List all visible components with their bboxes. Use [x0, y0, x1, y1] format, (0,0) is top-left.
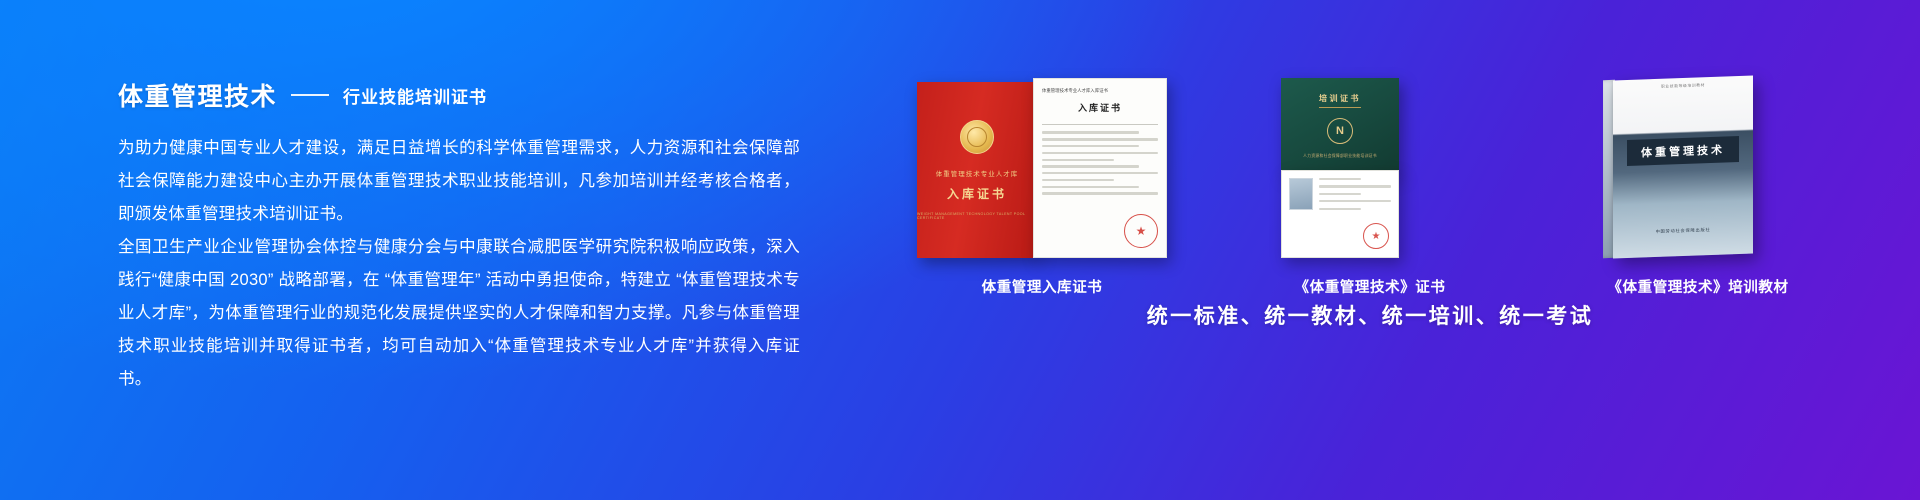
- inner-page-footer-text: [1042, 242, 1043, 248]
- page-subtitle: 行业技能培训证书: [343, 83, 487, 108]
- certificate-artwork-green: 培训证书 N 人力资源和社会保障部职业技能培训证书 ★: [1245, 78, 1495, 258]
- certificate-inner-page: 体重管理技术专业人才库入库证书 入库证书: [1033, 78, 1167, 258]
- book-title-band: 体重管理技术: [1627, 136, 1739, 166]
- heading-row: 体重管理技术 行业技能培训证书: [118, 78, 818, 112]
- certificate-caption-2: 《体重管理技术》证书: [1295, 276, 1446, 297]
- title-divider-dash: [291, 94, 329, 96]
- certificate-red-cover: 体重管理技术专业人才库 入库证书 WEIGHT MANAGEMENT TECHN…: [917, 82, 1037, 258]
- certificate-item-2: 培训证书 N 人力资源和社会保障部职业技能培训证书 ★ 《: [1245, 78, 1495, 297]
- inner-page-title: 入库证书: [1042, 101, 1158, 114]
- certificate-caption-1: 体重管理入库证书: [982, 276, 1103, 297]
- green-cover-title: 培训证书: [1319, 93, 1361, 108]
- gold-seal-icon: N: [1327, 118, 1353, 144]
- certificate-green-cover: 培训证书 N 人力资源和社会保障部职业技能培训证书: [1281, 78, 1399, 174]
- book-title-text: 体重管理技术: [1641, 142, 1725, 161]
- certificate-artwork-red: 体重管理技术专业人才库 入库证书 WEIGHT MANAGEMENT TECHN…: [917, 78, 1167, 258]
- id-photo-placeholder: [1289, 178, 1313, 210]
- textbook-artwork: 职业技能等级培训教材 体重管理技术 中国劳动社会保障出版社: [1573, 78, 1823, 258]
- certificate-image-1: 体重管理技术专业人才库 入库证书 WEIGHT MANAGEMENT TECHN…: [917, 78, 1167, 260]
- gold-emblem-icon: [960, 120, 994, 154]
- paragraph-2: 全国卫生产业企业管理协会体控与健康分会与中康联合减肥医学研究院积极响应政策，深入…: [118, 231, 800, 396]
- book-cover: 职业技能等级培训教材 体重管理技术 中国劳动社会保障出版社: [1613, 76, 1753, 259]
- certificate-item-1: 体重管理技术专业人才库 入库证书 WEIGHT MANAGEMENT TECHN…: [917, 78, 1167, 297]
- bottom-slogan: 统一标准、统一教材、统一培训、统一考试: [880, 300, 1860, 330]
- cover-main-text: 入库证书: [947, 185, 1007, 202]
- page-title: 体重管理技术: [118, 77, 277, 113]
- cover-small-text: 体重管理技术专业人才库: [936, 168, 1019, 178]
- book-publisher-text: 中国劳动社会保障出版社: [1613, 226, 1753, 237]
- inner-page-rule: [1042, 124, 1158, 125]
- green-cover-subtext: 人力资源和社会保障部职业技能培训证书: [1303, 153, 1377, 159]
- certificate-caption-3: 《体重管理技术》培训教材: [1607, 276, 1788, 297]
- inner-page-footer: [1042, 214, 1158, 248]
- inner-page-text-lines: [1042, 131, 1158, 214]
- cover-english-text: WEIGHT MANAGEMENT TECHNOLOGY TALENT POOL…: [917, 212, 1037, 220]
- red-star-stamp-icon: ★: [1363, 223, 1389, 249]
- paragraph-1: 为助力健康中国专业人才建设，满足日益增长的科学体重管理需求，人力资源和社会保障部…: [118, 132, 800, 231]
- red-stamp-icon: [1124, 214, 1158, 248]
- certificate-column: 体重管理技术专业人才库 入库证书 WEIGHT MANAGEMENT TECHN…: [880, 78, 1860, 408]
- gold-emblem-inner-icon: [967, 127, 987, 147]
- inner-page-heading: 体重管理技术专业人才库入库证书: [1042, 88, 1158, 94]
- certificate-item-3: 职业技能等级培训教材 体重管理技术 中国劳动社会保障出版社 《体重管理技术》培训…: [1573, 78, 1823, 297]
- text-column: 体重管理技术 行业技能培训证书 为助力健康中国专业人才建设，满足日益增长的科学体…: [118, 78, 818, 396]
- certificate-id-page: ★: [1281, 170, 1399, 258]
- book-top-mark: 职业技能等级培训教材: [1613, 82, 1753, 92]
- certificate-image-3: 职业技能等级培训教材 体重管理技术 中国劳动社会保障出版社: [1573, 78, 1823, 260]
- certificate-image-2: 培训证书 N 人力资源和社会保障部职业技能培训证书 ★: [1245, 78, 1495, 260]
- certificate-row: 体重管理技术专业人才库 入库证书 WEIGHT MANAGEMENT TECHN…: [880, 78, 1860, 268]
- body-copy: 为助力健康中国专业人才建设，满足日益增长的科学体重管理需求，人力资源和社会保障部…: [118, 132, 818, 396]
- promo-banner: 体重管理技术 行业技能培训证书 为助力健康中国专业人才建设，满足日益增长的科学体…: [0, 0, 1920, 500]
